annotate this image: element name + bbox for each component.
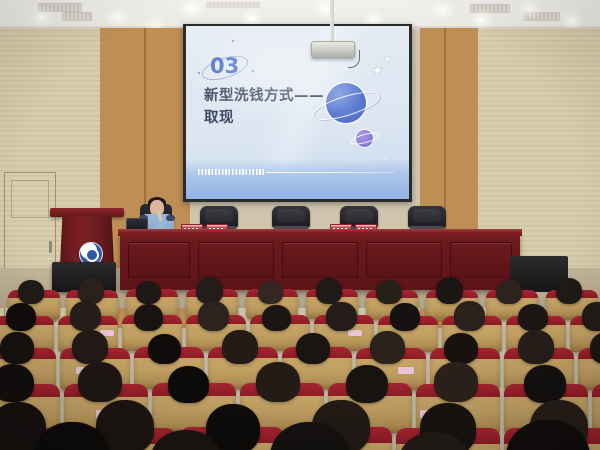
door-panel <box>11 180 49 218</box>
attendee-head <box>316 278 342 304</box>
attendee-head <box>376 280 402 304</box>
attendee-head <box>78 362 122 402</box>
attendee-head <box>370 331 405 364</box>
attendee-head <box>0 332 34 364</box>
chair-cushion <box>205 209 233 222</box>
audience-area <box>0 272 600 450</box>
attendee-head <box>134 304 163 331</box>
projector-mount-pole <box>330 0 334 42</box>
door-handle[interactable] <box>49 241 52 253</box>
downlight <box>36 14 47 21</box>
ceiling-vent <box>62 12 92 21</box>
attendee-head <box>582 302 600 331</box>
attendee-head <box>72 330 108 364</box>
slide-decor-dots <box>198 169 266 175</box>
attendee-head <box>70 301 101 331</box>
attendee-head <box>434 362 478 402</box>
downlight <box>186 5 197 12</box>
attendee-head <box>0 364 34 402</box>
chair-back <box>408 206 446 228</box>
attendee-head <box>256 362 300 402</box>
attendee-head <box>326 302 357 331</box>
emblem-inner <box>85 248 99 262</box>
chair-cushion <box>345 209 373 222</box>
downlight <box>368 17 379 24</box>
auditorium-seat[interactable] <box>592 384 600 434</box>
attendee-head <box>496 280 522 304</box>
attendee-head <box>296 333 330 364</box>
attendee-head <box>444 333 478 364</box>
downlight <box>476 16 487 23</box>
presenter-epaulette-right <box>166 215 175 221</box>
attendee-head <box>198 301 229 331</box>
attendee-head <box>390 303 420 331</box>
attendee-head <box>78 278 104 304</box>
attendee-head <box>524 365 566 403</box>
ceiling-vent <box>206 2 260 8</box>
attendee-head <box>168 366 209 403</box>
ceiling-vent <box>524 12 560 21</box>
downlight <box>437 6 448 13</box>
ceiling-vent <box>38 3 82 12</box>
downlight <box>246 16 257 23</box>
chair-cushion <box>413 209 441 222</box>
podium-top <box>50 208 124 217</box>
slide-footer-band <box>186 159 409 199</box>
attendee-head <box>346 365 388 403</box>
slide-decor-line <box>266 172 394 173</box>
attendee-head <box>18 280 44 304</box>
attendee-head <box>258 281 283 304</box>
seat-number-label <box>398 367 414 374</box>
attendee-head <box>556 278 582 304</box>
attendee-head <box>454 301 485 331</box>
ceiling-vent <box>470 4 510 13</box>
lecture-hall-photo: 03 新型洗钱方式—— 取现 ✦ ✦ ✧ <box>0 0 600 450</box>
attendee-head <box>262 305 291 331</box>
downlight <box>524 5 535 12</box>
downlight <box>566 17 577 24</box>
chair-cushion <box>277 209 305 222</box>
downlight <box>112 13 123 20</box>
seat-number-label <box>348 330 362 336</box>
attendee-head <box>222 330 258 364</box>
attendee-head <box>436 277 463 304</box>
attendee-head <box>196 277 223 304</box>
attendee-head <box>136 281 161 304</box>
projection-screen: 03 新型洗钱方式—— 取现 ✦ ✦ ✧ <box>186 26 409 199</box>
attendee-head <box>518 304 548 331</box>
attendee-head <box>6 303 36 331</box>
chair-back <box>272 206 310 228</box>
attendee-head <box>148 334 181 364</box>
attendee-head <box>518 330 554 364</box>
